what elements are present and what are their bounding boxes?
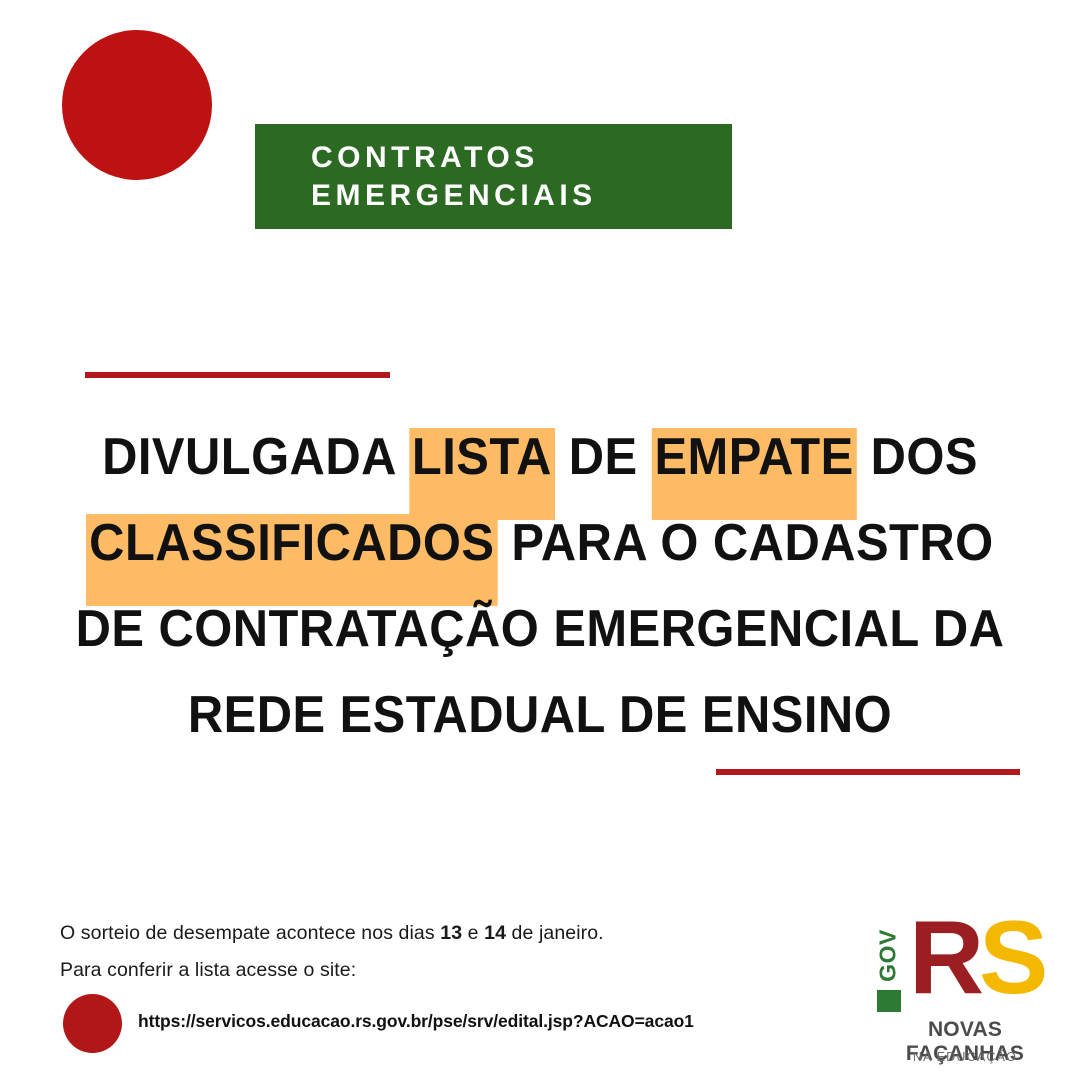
decorative-rule-bottom bbox=[716, 769, 1020, 775]
decorative-rule-top bbox=[85, 372, 390, 378]
headline-line-4: REDE ESTADUAL DE ENSINO bbox=[32, 672, 1047, 758]
footer-note-dates: O sorteio de desempate acontece nos dias… bbox=[60, 922, 604, 945]
site-url-link[interactable]: https://servicos.educacao.rs.gov.br/pse/… bbox=[138, 1011, 694, 1032]
decorative-red-circle-top bbox=[62, 30, 212, 180]
decorative-red-circle-url bbox=[63, 994, 122, 1053]
logo-subtagline: NA EDUCAÇÃO bbox=[875, 1050, 1055, 1064]
headline-highlight-empate: EMPATE bbox=[652, 414, 857, 500]
logo-green-square-icon bbox=[877, 990, 901, 1012]
poster-canvas: CONTRATOS EMERGENCIAIS DIVULGADA LISTA D… bbox=[0, 0, 1080, 1080]
headline-highlight-classificados: CLASSIFICADOS bbox=[86, 500, 497, 586]
footer-note-text: e bbox=[462, 922, 484, 944]
headline-line-1: DIVULGADA LISTA DE EMPATE DOS bbox=[32, 414, 1047, 500]
category-banner: CONTRATOS EMERGENCIAIS bbox=[255, 124, 732, 229]
footer-note-site: Para conferir a lista acesse o site: bbox=[60, 959, 356, 982]
footer-note-day-2: 14 bbox=[484, 922, 506, 944]
logo-gov-label: GOV bbox=[877, 923, 900, 989]
logo-letter-s: S bbox=[979, 906, 1048, 1010]
footer-note-text: de janeiro. bbox=[506, 922, 604, 944]
headline-line-2: CLASSIFICADOS PARA O CADASTRO bbox=[32, 500, 1047, 586]
headline: DIVULGADA LISTA DE EMPATE DOS CLASSIFICA… bbox=[0, 414, 1080, 758]
footer-note-text: O sorteio de desempate acontece nos dias bbox=[60, 922, 440, 944]
headline-text: DE bbox=[555, 428, 652, 486]
footer-note-day-1: 13 bbox=[440, 922, 462, 944]
headline-line-3: DE CONTRATAÇÃO EMERGENCIAL DA bbox=[32, 586, 1047, 672]
logo-mark: GOV R S bbox=[875, 918, 1055, 1015]
headline-text: PARA O CADASTRO bbox=[497, 514, 993, 572]
banner-line-1: CONTRATOS bbox=[311, 139, 732, 176]
banner-line-2: EMERGENCIAIS bbox=[311, 177, 732, 214]
headline-highlight-lista: LISTA bbox=[409, 414, 555, 500]
logo-gov-vertical: GOV bbox=[875, 924, 901, 990]
headline-text: DIVULGADA bbox=[102, 428, 409, 486]
headline-text: DOS bbox=[857, 428, 978, 486]
govrs-logo: GOV R S NOVAS FAÇANHAS NA EDUCAÇÃO bbox=[875, 918, 1055, 1073]
logo-letter-r: R bbox=[909, 906, 984, 1010]
